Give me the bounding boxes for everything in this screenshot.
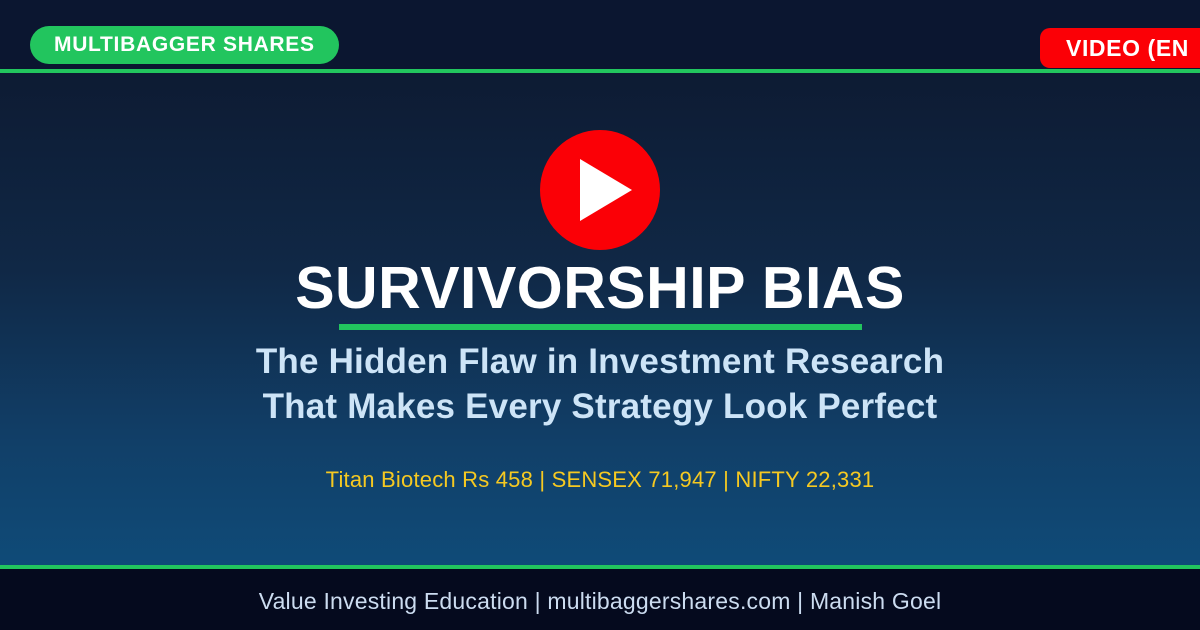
subtitle-line-1: The Hidden Flaw in Investment Research [0, 339, 1200, 384]
brand-badge[interactable]: MULTIBAGGER SHARES [30, 26, 339, 64]
thumbnail-card: MULTIBAGGER SHARES VIDEO (EN SURVIVORSHI… [0, 0, 1200, 630]
play-button[interactable] [540, 130, 660, 250]
market-stats-line: Titan Biotech Rs 458 | SENSEX 71,947 | N… [0, 467, 1200, 493]
play-icon [580, 159, 632, 221]
subtitle-line-2: That Makes Every Strategy Look Perfect [0, 384, 1200, 429]
brand-badge-label: MULTIBAGGER SHARES [54, 33, 315, 57]
video-badge-label: VIDEO (EN [1066, 35, 1189, 62]
footer-text: Value Investing Education | multibaggers… [259, 588, 942, 615]
page-title: SURVIVORSHIP BIAS [0, 259, 1200, 318]
footer-bar: Value Investing Education | multibaggers… [0, 573, 1200, 630]
video-badge[interactable]: VIDEO (EN [1040, 28, 1200, 68]
title-underline-rule [339, 324, 862, 330]
header-bar: MULTIBAGGER SHARES VIDEO (EN [0, 0, 1200, 73]
subtitle: The Hidden Flaw in Investment Research T… [0, 339, 1200, 429]
main-stage: SURVIVORSHIP BIAS The Hidden Flaw in Inv… [0, 73, 1200, 569]
